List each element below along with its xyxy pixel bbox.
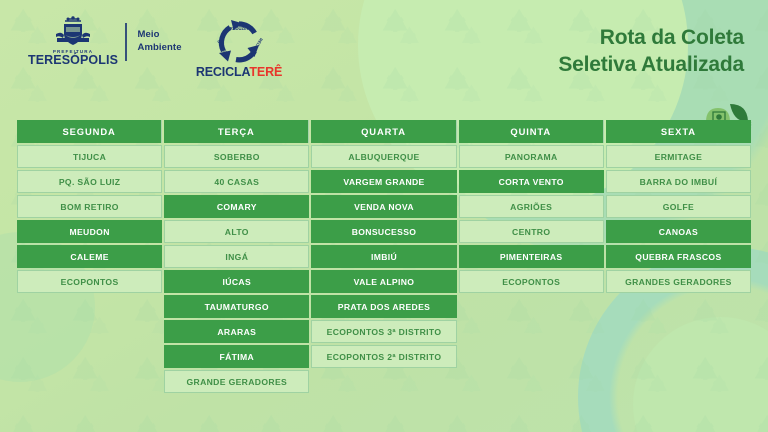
day-column-header: TERÇA xyxy=(164,120,309,143)
tere-word: TERÊ xyxy=(249,65,282,79)
collection-schedule-table: SEGUNDATIJUCAPQ. SÃO LUIZBOM RETIROMEUDO… xyxy=(17,120,751,393)
department-line-1: Meio xyxy=(138,29,182,42)
schedule-cell: GRANDES GERADORES xyxy=(606,270,751,293)
schedule-cell: BARRA DO IMBUÍ xyxy=(606,170,751,193)
schedule-cell: PANORAMA xyxy=(459,145,604,168)
prefeitura-city: TERESÓPOLIS xyxy=(28,54,118,67)
schedule-cell: CENTRO xyxy=(459,220,604,243)
page-title: Rota da Coleta Seletiva Atualizada xyxy=(558,25,744,78)
schedule-cell: PQ. SÃO LUIZ xyxy=(17,170,162,193)
schedule-cell: PIMENTEIRAS xyxy=(459,245,604,268)
recycling-arrows-icon: REDUZIR RECICLAR REUSAR xyxy=(214,17,264,64)
schedule-cell: AGRIÕES xyxy=(459,195,604,218)
schedule-cell: MEUDON xyxy=(17,220,162,243)
schedule-cell: ECOPONTOS 2ª DISTRITO xyxy=(311,345,456,368)
schedule-cell: BOM RETIRO xyxy=(17,195,162,218)
schedule-cell: TIJUCA xyxy=(17,145,162,168)
schedule-cell: QUEBRA FRASCOS xyxy=(606,245,751,268)
day-column-header: QUARTA xyxy=(311,120,456,143)
page-header: PREFEITURA TERESÓPOLIS Meio Ambiente RED… xyxy=(0,0,768,112)
day-column-quarta: QUARTAALBUQUERQUEVARGEM GRANDEVENDA NOVA… xyxy=(311,120,456,393)
schedule-cell: CALEME xyxy=(17,245,162,268)
schedule-cell: VARGEM GRANDE xyxy=(311,170,456,193)
schedule-cell: ARARAS xyxy=(164,320,309,343)
page-title-line-2: Seletiva Atualizada xyxy=(558,52,744,79)
day-column-header: SEGUNDA xyxy=(17,120,162,143)
schedule-cell: VALE ALPINO xyxy=(311,270,456,293)
schedule-cell: COMARY xyxy=(164,195,309,218)
schedule-cell: ALTO xyxy=(164,220,309,243)
schedule-cell: PRATA DOS AREDES xyxy=(311,295,456,318)
recicla-tere-logo: REDUZIR RECICLAR REUSAR RECICLATERÊ xyxy=(196,17,282,79)
schedule-cell: IÚCAS xyxy=(164,270,309,293)
recicla-wordmark: RECICLATERÊ xyxy=(196,65,282,79)
schedule-cell: ERMITAGE xyxy=(606,145,751,168)
coat-of-arms-icon xyxy=(53,16,93,48)
schedule-cell: TAUMATURGO xyxy=(164,295,309,318)
schedule-cell: INGÁ xyxy=(164,245,309,268)
day-column-header: SEXTA xyxy=(606,120,751,143)
schedule-cell: IMBIÚ xyxy=(311,245,456,268)
schedule-cell: GOLFE xyxy=(606,195,751,218)
day-column-terça: TERÇASOBERBO40 CASASCOMARYALTOINGÁIÚCAST… xyxy=(164,120,309,393)
day-column-quinta: QUINTAPANORAMACORTA VENTOAGRIÕESCENTROPI… xyxy=(459,120,604,393)
brand-divider xyxy=(125,23,127,61)
svg-text:REDUZIR: REDUZIR xyxy=(230,26,249,31)
schedule-cell: BONSUCESSO xyxy=(311,220,456,243)
day-column-header: QUINTA xyxy=(459,120,604,143)
department-label: Meio Ambiente xyxy=(138,29,182,55)
schedule-cell: ECOPONTOS xyxy=(17,270,162,293)
schedule-cell: ECOPONTOS xyxy=(459,270,604,293)
department-line-2: Ambiente xyxy=(138,42,182,55)
schedule-cell: ECOPONTOS 3ª DISTRITO xyxy=(311,320,456,343)
schedule-cell: FÁTIMA xyxy=(164,345,309,368)
schedule-cell: CORTA VENTO xyxy=(459,170,604,193)
day-column-segunda: SEGUNDATIJUCAPQ. SÃO LUIZBOM RETIROMEUDO… xyxy=(17,120,162,393)
prefeitura-logo: PREFEITURA TERESÓPOLIS xyxy=(32,16,114,67)
brand-cluster: PREFEITURA TERESÓPOLIS Meio Ambiente xyxy=(32,16,182,67)
schedule-cell: 40 CASAS xyxy=(164,170,309,193)
schedule-cell: SOBERBO xyxy=(164,145,309,168)
schedule-cell: GRANDE GERADORES xyxy=(164,370,309,393)
day-column-sexta: SEXTAERMITAGEBARRA DO IMBUÍGOLFECANOASQU… xyxy=(606,120,751,393)
recicla-word: RECICLA xyxy=(196,65,250,79)
schedule-cell: VENDA NOVA xyxy=(311,195,456,218)
page-title-line-1: Rota da Coleta xyxy=(558,25,744,52)
schedule-cell: ALBUQUERQUE xyxy=(311,145,456,168)
schedule-cell: CANOAS xyxy=(606,220,751,243)
